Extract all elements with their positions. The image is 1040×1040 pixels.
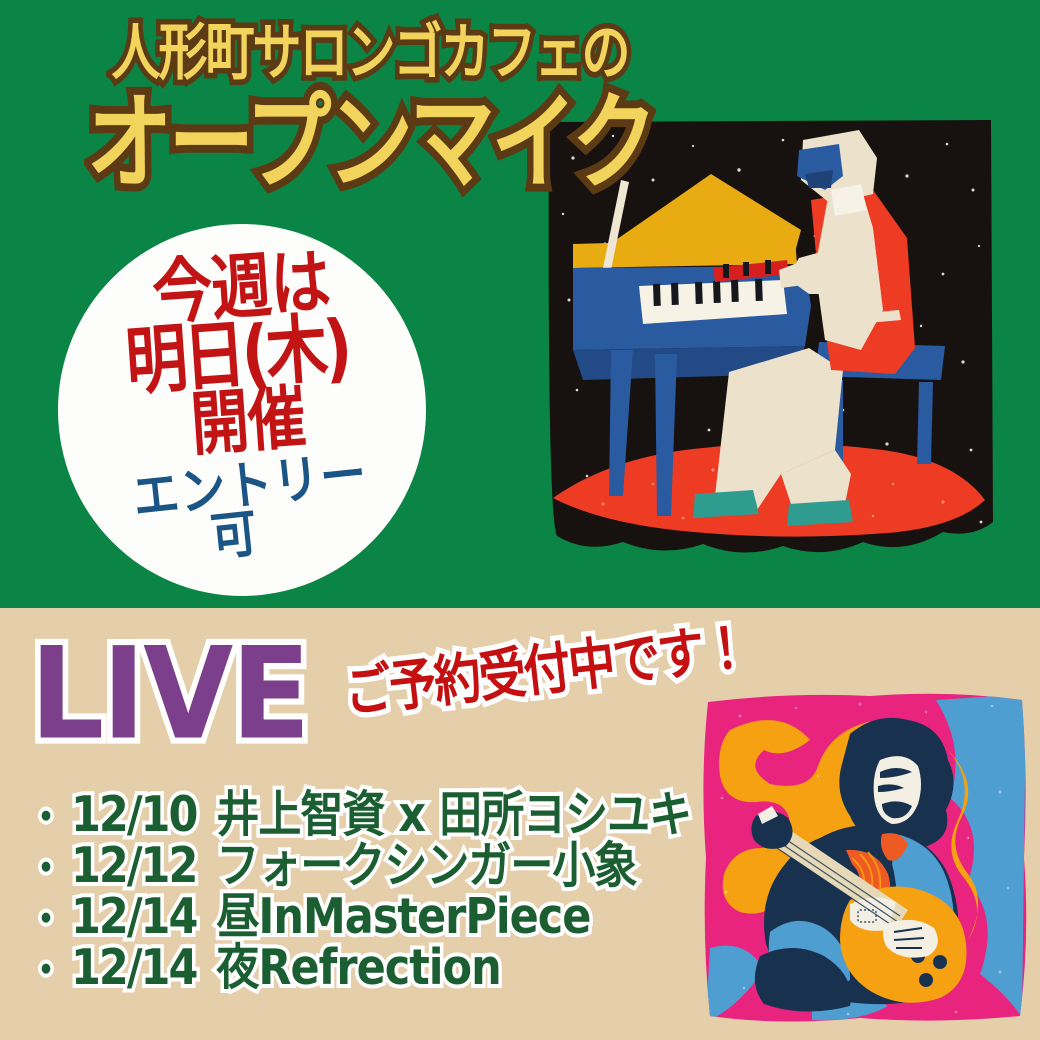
headline-title: オープンマイク — [0, 91, 740, 196]
headline-subtitle: 人形町サロンゴカフェの — [0, 22, 740, 83]
poster-root: 人形町サロンゴカフェの オープンマイク 今週は 明日(木) 開催 エントリー 可 — [0, 0, 1040, 1040]
list-item: ・ 12/10 井上智資 x 田所ヨシユキ — [28, 786, 768, 844]
reservation-note: ご予約受付中です！ — [342, 620, 751, 721]
event-date: 12/14 — [71, 888, 196, 946]
live-lineup-list: ・ 12/10 井上智資 x 田所ヨシユキ ・ 12/12 フォークシンガー小象… — [28, 790, 768, 994]
badge-line-ok: 可 — [172, 503, 297, 567]
event-date: 12/12 — [71, 837, 196, 895]
event-name: フォークシンガー小象 — [216, 837, 636, 895]
event-name: 井上智資 x 田所ヨシユキ — [216, 786, 691, 844]
list-bullet: ・ — [28, 942, 63, 1000]
announcement-circle-badge: 今週は 明日(木) 開催 エントリー 可 — [58, 224, 426, 596]
list-item: ・ 12/12 フォークシンガー小象 — [28, 837, 768, 895]
bottom-beige-panel: LIVE ご予約受付中です！ ・ 12/10 井上智資 x 田所ヨシユキ ・ 1… — [0, 608, 1040, 1040]
event-date: 12/14 — [71, 939, 196, 997]
top-green-panel: 人形町サロンゴカフェの オープンマイク 今週は 明日(木) 開催 エントリー 可 — [0, 0, 1040, 608]
list-item: ・ 12/14 夜Refrection — [28, 939, 768, 997]
live-heading: LIVE — [30, 630, 308, 757]
headline-block: 人形町サロンゴカフェの オープンマイク — [0, 22, 740, 177]
event-name: 夜Refrection — [216, 939, 500, 997]
list-item: ・ 12/14 昼InMasterPiece — [28, 888, 768, 946]
event-name: 昼InMasterPiece — [216, 888, 590, 946]
event-date: 12/10 — [71, 786, 196, 844]
